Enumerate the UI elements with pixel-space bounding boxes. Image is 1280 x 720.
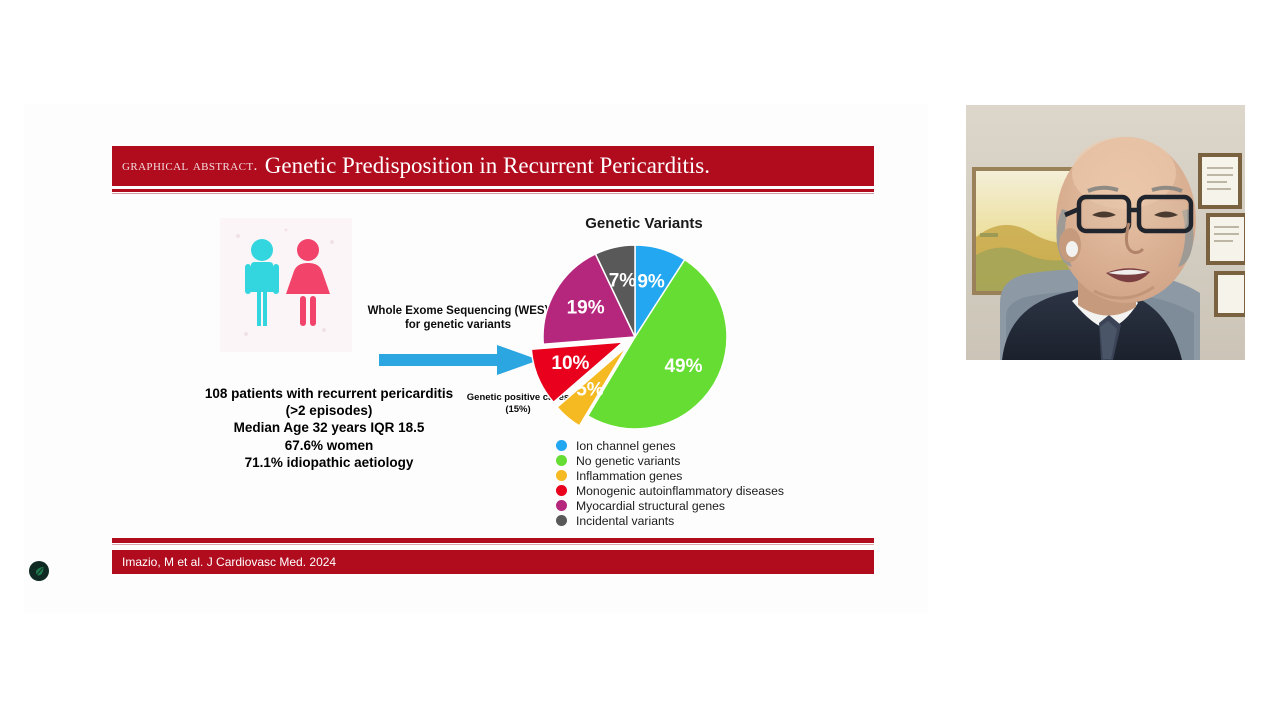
speaker-video-thumbnail[interactable] xyxy=(966,105,1245,360)
slide-panel: Graphical Abstract. Genetic Predispositi… xyxy=(24,104,928,613)
citation-text: Imazio, M et al. J Cardiovasc Med. 2024 xyxy=(122,555,336,569)
patient-stat-line-2: (>2 episodes) xyxy=(164,402,494,419)
leaf-badge-icon[interactable] xyxy=(29,561,49,581)
footer-rule-secondary xyxy=(112,544,874,545)
patient-stat-line-4: 67.6% women xyxy=(164,437,494,454)
chart-title: Genetic Variants xyxy=(494,215,794,232)
legend-swatch-icon xyxy=(556,485,567,496)
page-title: Genetic Predisposition in Recurrent Peri… xyxy=(265,153,710,179)
patient-stat-line-3: Median Age 32 years IQR 18.5 xyxy=(164,419,494,436)
patient-stat-line-1: 108 patients with recurrent pericarditis xyxy=(164,385,494,402)
pie-slice-label: 10% xyxy=(551,353,589,374)
legend-item: Monogenic autoinflammatory diseases xyxy=(556,483,886,498)
title-rule-secondary xyxy=(112,193,874,194)
legend-swatch-icon xyxy=(556,515,567,526)
legend-label: Ion channel genes xyxy=(576,439,676,453)
patient-statistics-block: 108 patients with recurrent pericarditis… xyxy=(164,385,494,471)
legend-swatch-icon xyxy=(556,440,567,451)
legend-label: Myocardial structural genes xyxy=(576,499,725,513)
legend-label: Inflammation genes xyxy=(576,469,682,483)
pie-slice-label: 7% xyxy=(609,270,637,291)
pie-slice-label: 5% xyxy=(576,380,604,401)
genetic-variants-pie-chart: 9%49%5%10%19%7% xyxy=(471,237,801,437)
screen-root: Graphical Abstract. Genetic Predispositi… xyxy=(0,0,1280,720)
legend-item: Ion channel genes xyxy=(556,438,886,453)
patient-stat-line-5: 71.1% idiopathic aetiology xyxy=(164,454,494,471)
graphical-abstract-title-banner: Graphical Abstract. Genetic Predispositi… xyxy=(112,146,874,186)
pie-slice-label: 19% xyxy=(567,297,605,318)
legend-item: Inflammation genes xyxy=(556,468,886,483)
legend-item: No genetic variants xyxy=(556,453,886,468)
legend-item: Myocardial structural genes xyxy=(556,498,886,513)
pie-slice-label: 9% xyxy=(637,271,665,292)
legend-swatch-icon xyxy=(556,455,567,466)
legend-label: No genetic variants xyxy=(576,454,680,468)
legend-swatch-icon xyxy=(556,500,567,511)
title-rule-primary xyxy=(112,189,874,192)
chart-legend: Ion channel genesNo genetic variantsInfl… xyxy=(556,438,886,528)
legend-label: Monogenic autoinflammatory diseases xyxy=(576,484,784,498)
legend-swatch-icon xyxy=(556,470,567,481)
pie-slice-label: 49% xyxy=(664,356,702,377)
footer-rule-primary xyxy=(112,538,874,543)
title-kicker: Graphical Abstract. xyxy=(122,157,258,175)
patient-population-icon-card xyxy=(220,218,352,352)
legend-label: Incidental variants xyxy=(576,514,674,528)
legend-item: Incidental variants xyxy=(556,513,886,528)
footer-citation-bar: Imazio, M et al. J Cardiovasc Med. 2024 xyxy=(112,550,874,574)
